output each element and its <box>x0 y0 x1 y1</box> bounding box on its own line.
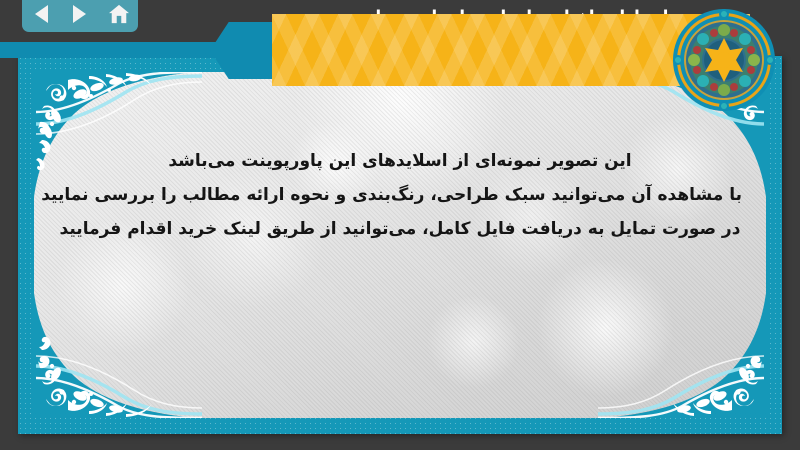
body-line-2: با مشاهده آن می‌توانید سبک طراحی، رنگ‌بن… <box>58 178 742 212</box>
islamic-medallion-icon <box>672 8 776 112</box>
home-icon <box>108 4 130 24</box>
slide-viewer: بررسی ارتباط ساختار سازمانی با توانمندسا… <box>0 0 800 450</box>
body-line-3: در صورت تمایل به دریافت فایل کامل، می‌تو… <box>58 212 742 246</box>
triangle-left-icon <box>35 5 48 23</box>
next-slide-button[interactable] <box>67 3 93 25</box>
slide-body-text: این تصویر نمونه‌ای از اسلایدهای این پاور… <box>58 144 742 246</box>
body-line-1: این تصویر نمونه‌ای از اسلایدهای این پاور… <box>58 144 742 178</box>
previous-slide-button[interactable] <box>28 3 54 25</box>
content-panel: این تصویر نمونه‌ای از اسلایدهای این پاور… <box>18 56 782 434</box>
panel-top-strip <box>0 42 230 58</box>
triangle-right-icon <box>73 5 86 23</box>
home-button[interactable] <box>106 3 132 25</box>
slide-navigation-bar <box>22 0 138 32</box>
